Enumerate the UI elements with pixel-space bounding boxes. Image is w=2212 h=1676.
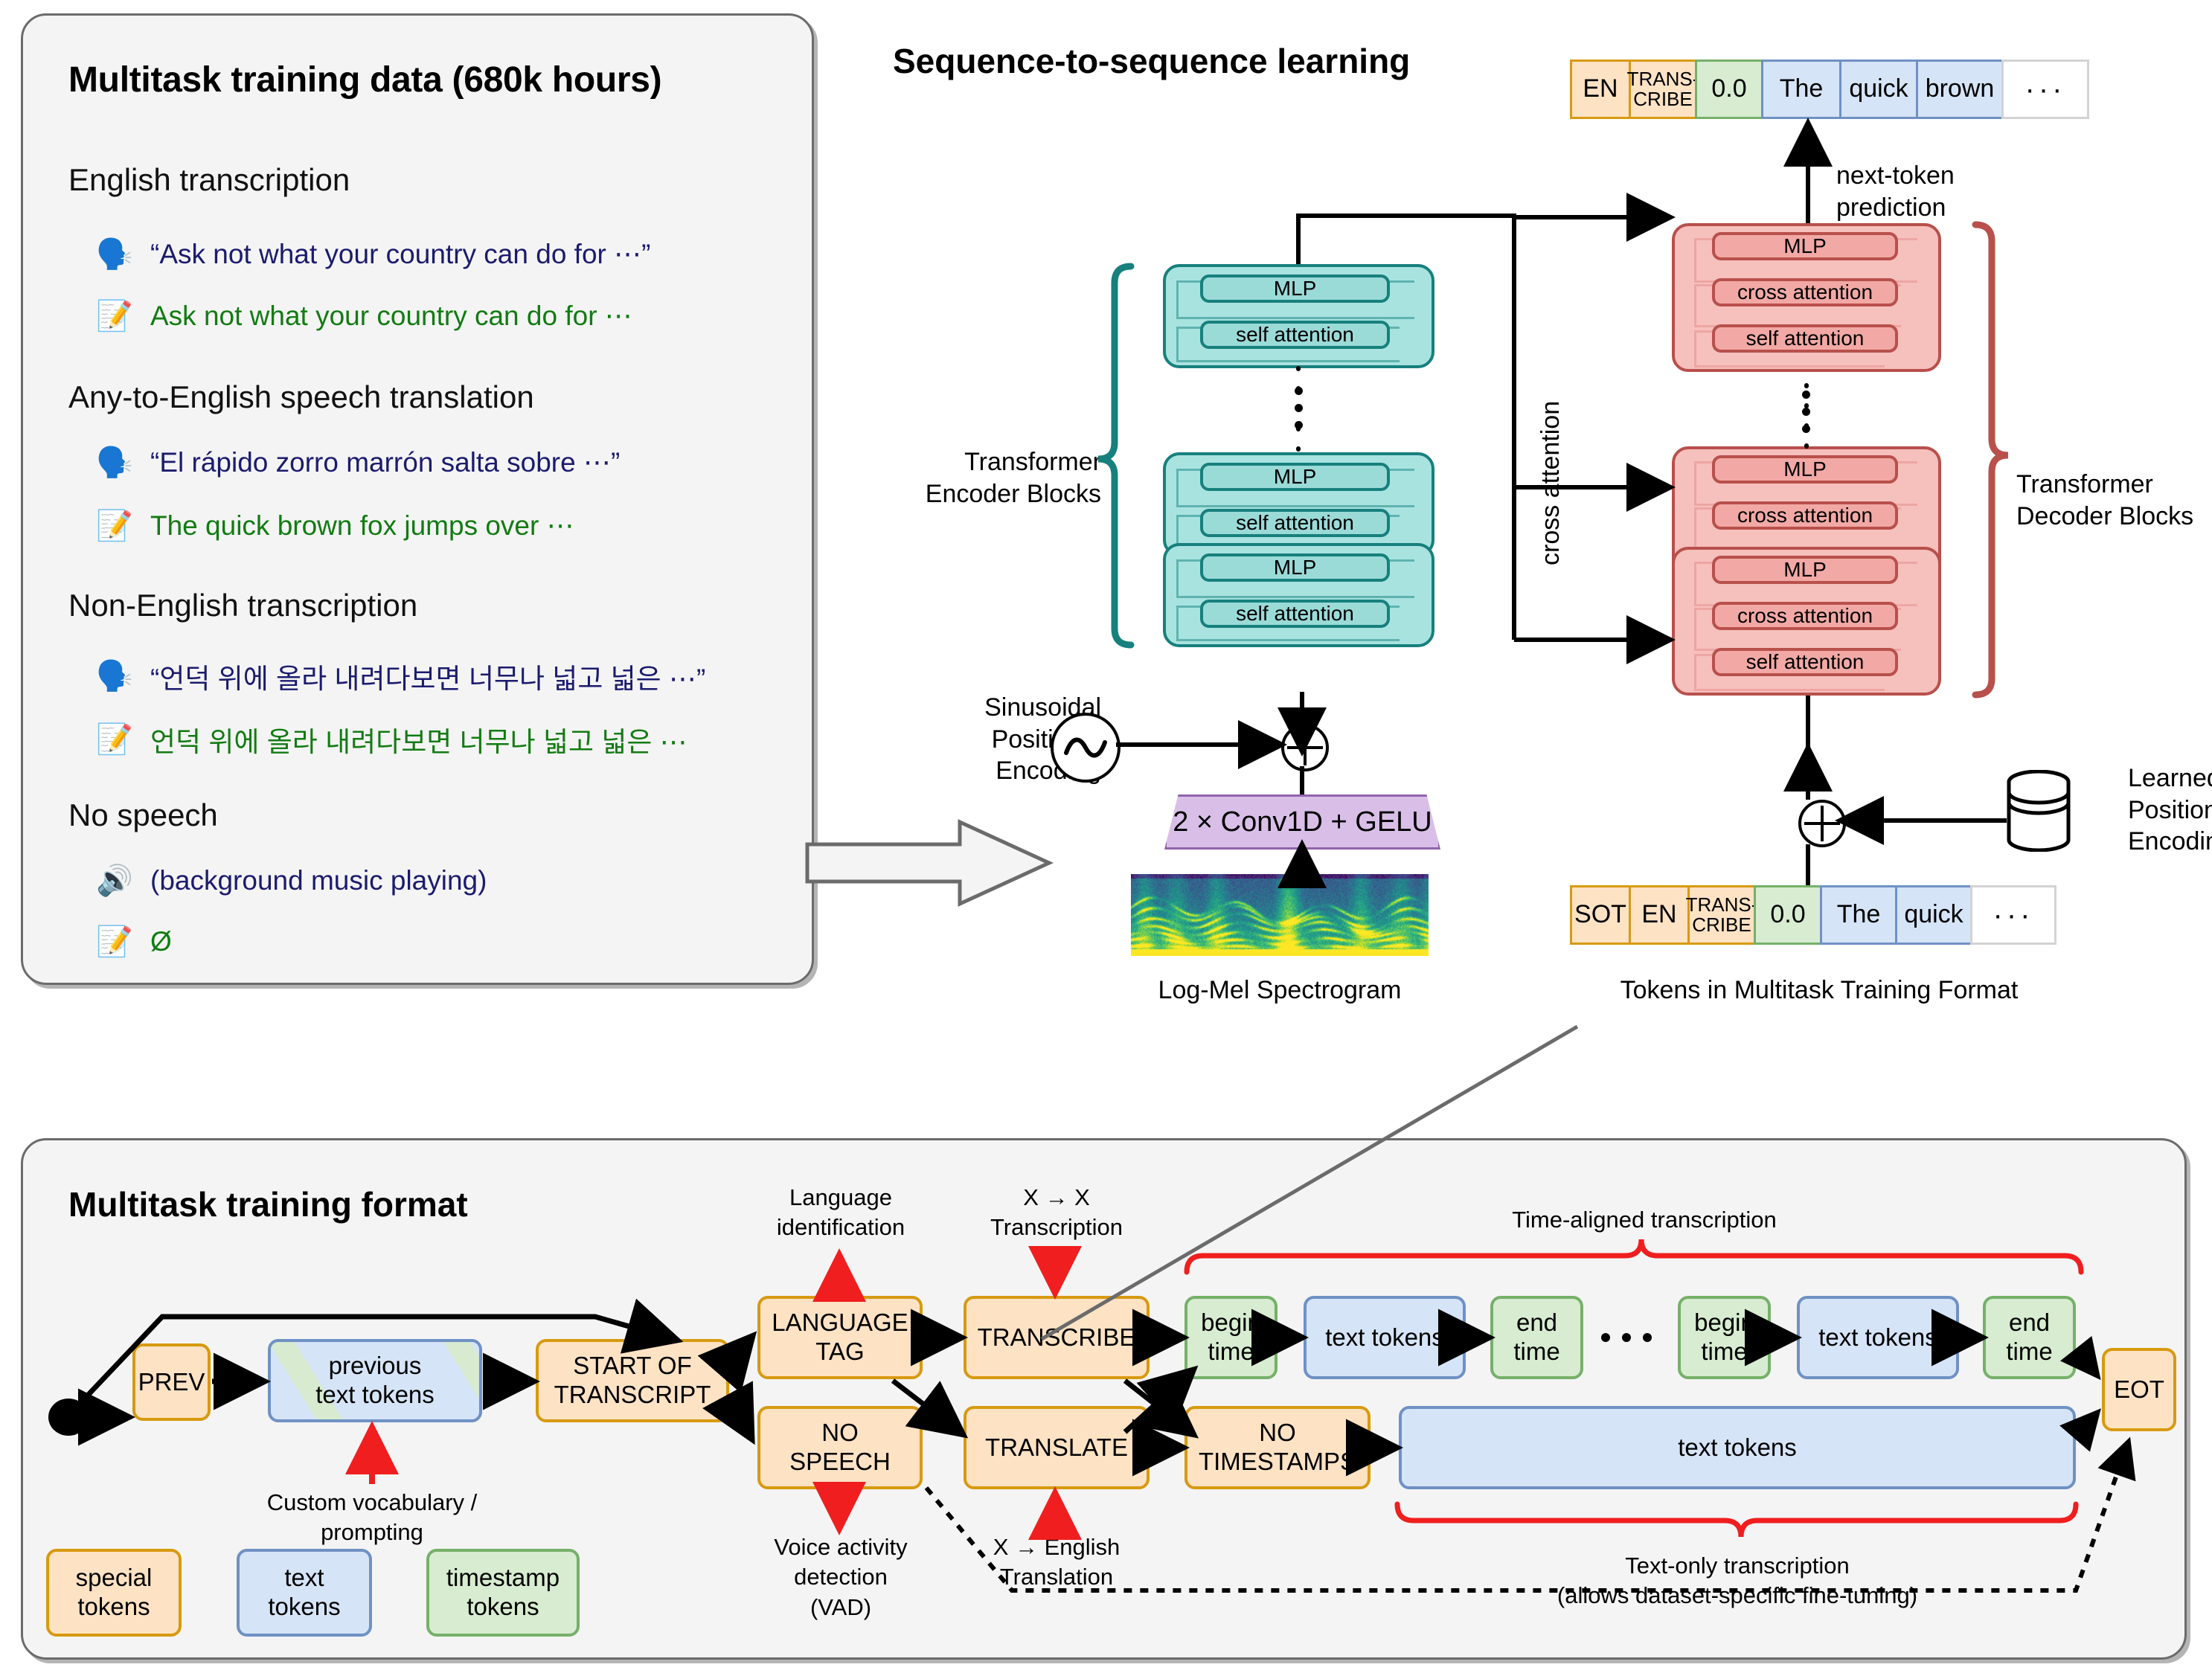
decoder-ellipsis-dots [1802,391,1810,433]
example-row-written: 📝 Ø [95,926,172,957]
spoken-text: “El rápido zorro marrón salta sobre ⋯” [150,446,620,478]
flow-node-text-tokens-long[interactable]: text tokens [1399,1406,2076,1489]
token-ellipsis: ··· [2001,60,2089,119]
token-the: The [1761,60,1841,119]
flow-ellipsis-dots [1601,1333,1652,1342]
flow-node-eot[interactable]: EOT [2102,1348,2176,1431]
flow-node-transcribe[interactable]: TRANSCRIBE [964,1296,1150,1379]
annotation-language-identification: Language identification [733,1183,949,1243]
flow-node-prev[interactable]: PREV [132,1343,211,1421]
encoder-mlp: MLP [1200,274,1390,303]
decoder-cross-attention: cross attention [1712,602,1898,630]
bottom-panel-title: Multitask training format [68,1184,468,1224]
encoder-mlp: MLP [1200,463,1390,491]
token-quick: quick [1839,60,1918,119]
example-row-spoken: 🗣️ “언덕 위에 올라 내려다보면 너무나 넓고 넓은 ⋯” [95,656,705,696]
decoder-add-icon [1798,800,1846,847]
loud-speaker-icon: 🔊 [95,866,134,896]
sine-wave-icon [1051,713,1121,783]
section-heading-english-transcription: English transcription [68,162,350,198]
database-cylinder-icon [2007,770,2071,855]
annotation-x-to-x-transcription: X → X Transcription [949,1183,1164,1243]
decoder-cross-attention: cross attention [1712,278,1898,306]
encoder-self-attention: self attention [1200,509,1390,537]
section-heading-no-speech: No speech [68,797,218,833]
flow-node-start-of-transcript[interactable]: START OF TRANSCRIPT [536,1339,729,1422]
annotation-time-aligned-transcription: Time-aligned transcription [1347,1205,1942,1235]
memo-pencil-icon: 📝 [95,301,134,331]
annotation-custom-vocabulary: Custom vocabulary / prompting [246,1488,498,1548]
token-timestamp-0: 0.0 [1754,885,1822,945]
decoder-block-top: MLP cross attention self attention [1672,223,1941,372]
annotation-voice-activity-detection: Voice activity detection (VAD) [725,1532,956,1622]
flow-node-end-time-2[interactable]: end time [1983,1296,2076,1379]
example-row-written: 📝 언덕 위에 올라 내려다보면 너무나 넓고 넓은 ⋯ [95,719,687,760]
memo-pencil-icon: 📝 [95,511,134,541]
flow-node-text-tokens-2[interactable]: text tokens [1797,1296,1959,1379]
left-panel-title: Multitask training data (680k hours) [68,60,661,100]
token-quick: quick [1895,885,1972,945]
flow-node-begin-time-1[interactable]: begin time [1184,1296,1277,1379]
example-row-spoken: 🗣️ “El rápido zorro marrón salta sobre ⋯… [95,446,620,478]
section-heading-non-english-transcription: Non-English transcription [68,588,417,623]
decoder-cross-attention: cross attention [1712,501,1898,530]
decoder-self-attention: self attention [1712,324,1898,353]
decoder-mlp: MLP [1712,232,1898,260]
learned-positional-encoding-label: Learned Positional Encoding [2128,762,2212,858]
output-token-row: EN TRANS-CRIBE 0.0 The quick brown ··· [1570,60,2089,119]
annotation-x-to-english-translation: X → English Translation [941,1532,1172,1593]
token-en: EN [1570,60,1631,119]
token-the: The [1820,885,1897,945]
speaking-head-icon: 🗣️ [95,240,134,269]
input-token-row: SOT EN TRANS-CRIBE 0.0 The quick ··· [1570,885,2056,945]
log-mel-spectrogram [1131,874,1429,956]
spoken-text: “Ask not what your country can do for ⋯” [150,238,650,270]
memo-pencil-icon: 📝 [95,725,134,754]
encoder-block-top: MLP self attention [1163,264,1434,368]
spoken-text: (background music playing) [150,865,487,896]
token-en: EN [1629,885,1690,945]
decoder-mlp: MLP [1712,455,1898,484]
flow-node-no-speech[interactable]: NO SPEECH [757,1406,923,1489]
example-row-written: 📝 The quick brown fox jumps over ⋯ [95,510,574,542]
section-heading-any-to-english-speech-translation: Any-to-English speech translation [68,379,534,415]
token-timestamp-0: 0.0 [1695,60,1763,119]
encoder-block-bottom: MLP self attention [1163,543,1434,647]
decoder-block-bottom: MLP cross attention self attention [1672,547,1941,696]
token-ellipsis: ··· [1970,885,2056,945]
next-token-prediction-label: next-token prediction [1836,160,1955,223]
encoder-self-attention: self attention [1200,321,1390,349]
example-row-spoken: 🗣️ “Ask not what your country can do for… [95,238,650,270]
encoder-add-icon [1281,724,1329,771]
token-transcribe: TRANS-CRIBE [1629,60,1697,119]
speaking-head-icon: 🗣️ [95,448,134,478]
conv1d-gelu-block: 2 × Conv1D + GELU [1164,794,1440,850]
flow-node-language-tag[interactable]: LANGUAGE TAG [757,1296,923,1379]
flow-node-translate[interactable]: TRANSLATE [964,1406,1150,1489]
token-sot: SOT [1570,885,1631,945]
written-text: 언덕 위에 올라 내려다보면 너무나 넓고 넓은 ⋯ [150,719,687,760]
encoder-ellipsis-dots [1295,387,1303,429]
seq2seq-title: Sequence-to-sequence learning [893,41,1410,81]
speaking-head-icon: 🗣️ [95,661,134,691]
flow-node-begin-time-2[interactable]: begin time [1678,1296,1771,1379]
flow-node-no-timestamps[interactable]: NO TIMESTAMPS [1184,1406,1371,1489]
memo-pencil-icon: 📝 [95,927,134,957]
flow-node-previous-text-tokens[interactable]: previous text tokens [268,1339,482,1422]
example-row-written: 📝 Ask not what your country can do for ⋯ [95,300,632,332]
spectrogram-caption: Log-Mel Spectrogram [1101,975,1458,1006]
spoken-text: “언덕 위에 올라 내려다보면 너무나 넓고 넓은 ⋯” [150,656,705,696]
decoder-self-attention: self attention [1712,648,1898,676]
encoder-mlp: MLP [1200,553,1390,582]
legend-timestamp-tokens: timestamp tokens [426,1549,580,1637]
token-brown: brown [1916,60,2004,119]
big-right-arrow-icon [807,822,1049,904]
written-text: Ø [150,926,172,957]
flow-node-end-time-1[interactable]: end time [1490,1296,1583,1379]
encoder-bracket-label: Transformer Encoder Blocks [878,446,1101,510]
legend-text-tokens: text tokens [237,1549,372,1637]
encoder-self-attention: self attention [1200,600,1390,628]
flow-start-dot [48,1399,89,1436]
legend-special-tokens: special tokens [46,1549,182,1637]
cross-attention-label: cross attention [1536,401,1565,565]
example-row-spoken: 🔊 (background music playing) [95,865,487,896]
flow-node-text-tokens-1[interactable]: text tokens [1304,1296,1466,1379]
multitask-training-data-panel [21,13,814,985]
token-transcribe: TRANS-CRIBE [1687,885,1756,945]
written-text: Ask not what your country can do for ⋯ [150,300,632,332]
decoder-mlp: MLP [1712,556,1898,584]
annotation-text-only-transcription: Text-only transcription (allows dataset-… [1362,1551,2113,1611]
tokens-caption: Tokens in Multitask Training Format [1562,975,2076,1006]
decoder-bracket-label: Transformer Decoder Blocks [2016,469,2212,532]
encoder-block-middle: MLP self attention [1163,452,1434,556]
written-text: The quick brown fox jumps over ⋯ [150,510,574,542]
